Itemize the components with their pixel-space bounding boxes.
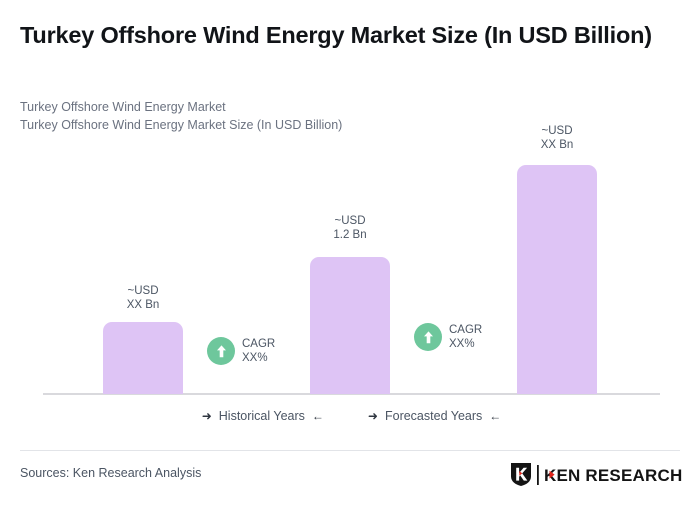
- cagr-label-forecasted: CAGR XX%: [449, 323, 482, 351]
- page-title: Turkey Offshore Wind Energy Market Size …: [20, 20, 660, 51]
- ken-research-logo: KEN RESEARCH: [510, 462, 683, 487]
- period-legend: ➜ Historical Years ← ➜ Forecasted Years …: [43, 409, 660, 423]
- footer-divider: [20, 450, 680, 451]
- bar-base[interactable]: [310, 257, 390, 394]
- cagr-label-historical: CAGR XX%: [242, 337, 275, 365]
- subtitle-line-1: Turkey Offshore Wind Energy Market: [20, 98, 640, 116]
- arrow-left-icon: ←: [489, 410, 501, 422]
- period-forecasted[interactable]: ➜ Forecasted Years ←: [368, 409, 501, 423]
- ken-research-wordmark: KEN RESEARCH: [537, 464, 683, 486]
- arrow-right-icon: ➜: [368, 410, 378, 422]
- bar-label-historical: ~USD XX Bn: [103, 284, 183, 312]
- arrow-up-icon: [207, 337, 235, 365]
- arrow-left-icon: ←: [312, 410, 324, 422]
- chart-page: Turkey Offshore Wind Energy Market Size …: [0, 0, 700, 520]
- subtitle-line-2: Turkey Offshore Wind Energy Market Size …: [20, 116, 640, 134]
- period-label-forecasted: Forecasted Years: [385, 409, 482, 423]
- sources-text: Sources: Ken Research Analysis: [20, 466, 201, 480]
- bar-label-base: ~USD 1.2 Bn: [310, 214, 390, 242]
- ken-shield-icon: [510, 462, 532, 487]
- subtitle-block: Turkey Offshore Wind Energy Market Turke…: [20, 98, 640, 134]
- cagr-badge-historical[interactable]: CAGR XX%: [207, 337, 275, 365]
- bar-forecasted[interactable]: [517, 165, 597, 394]
- arrow-right-icon: ➜: [202, 410, 212, 422]
- period-label-historical: Historical Years: [219, 409, 305, 423]
- chart-plot-area: ~USD XX Bn ~USD 1.2 Bn ~USD XX Bn CAGR X…: [0, 0, 700, 520]
- period-historical[interactable]: ➜ Historical Years ←: [202, 409, 324, 423]
- arrow-up-icon: [414, 323, 442, 351]
- bar-historical[interactable]: [103, 322, 183, 394]
- svg-text:KEN RESEARCH: KEN RESEARCH: [544, 466, 682, 485]
- cagr-badge-forecasted[interactable]: CAGR XX%: [414, 323, 482, 351]
